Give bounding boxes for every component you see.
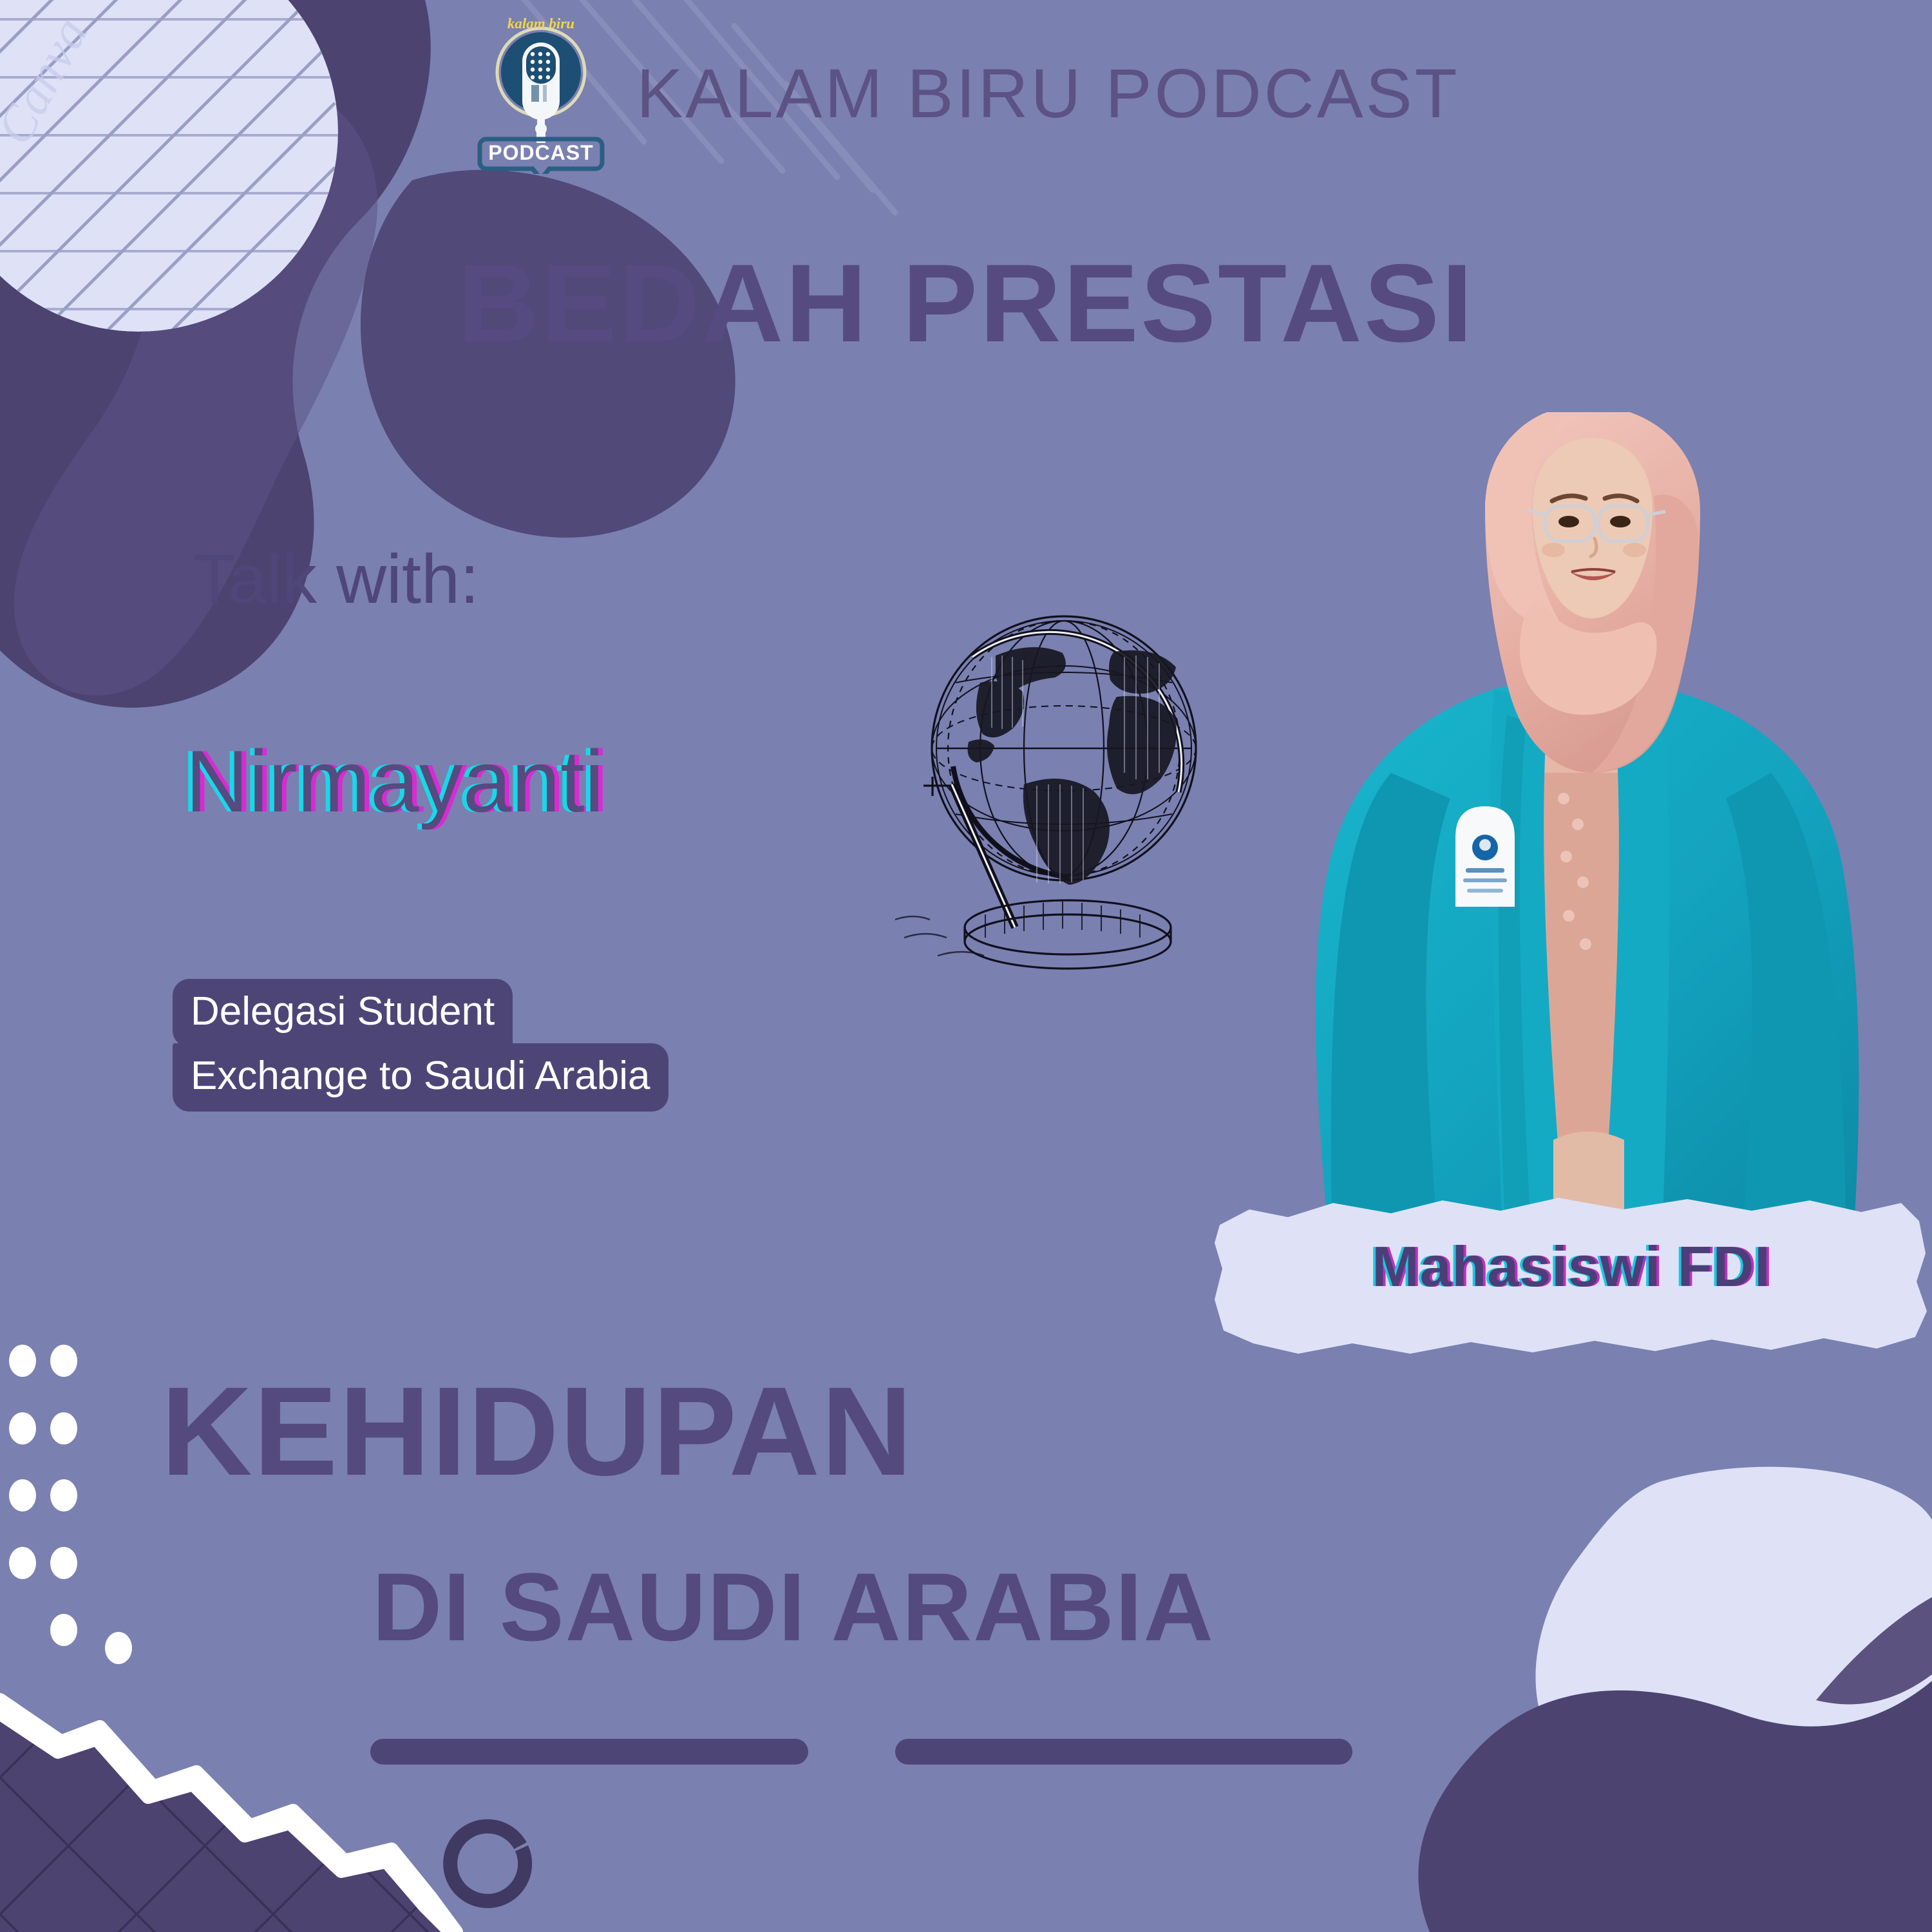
podcast-poster: Canva	[0, 0, 1932, 1932]
divider-bar-left	[370, 1739, 808, 1765]
poster-header: kalam biru PODCAST KALAM BIRU PODCAST	[0, 13, 1932, 174]
headline-line-2: DI SAUDI ARABIA	[372, 1558, 1215, 1655]
globe-icon	[876, 580, 1224, 979]
svg-text:PODCAST: PODCAST	[489, 141, 594, 164]
headline-line-1: KEHIDUPAN	[161, 1368, 914, 1495]
guest-name: Nirmayanti	[185, 737, 604, 825]
svg-text:kalam biru: kalam biru	[507, 15, 574, 32]
status-badge-label: Mahasiswi FDI	[1211, 1191, 1932, 1359]
guest-role-block: Delegasi Student Exchange to Saudi Arabi…	[173, 979, 668, 1112]
guest-role-line-2: Exchange to Saudi Arabia	[173, 1043, 668, 1112]
kalam-biru-logo: kalam biru PODCAST	[472, 13, 611, 174]
status-badge: Mahasiswi FDI	[1211, 1191, 1932, 1359]
talk-with-label: Talk with:	[193, 544, 479, 614]
divider-bar-right	[895, 1739, 1352, 1765]
guest-role-line-1: Delegasi Student	[173, 979, 513, 1047]
page-title: BEDAH PRESTASI	[0, 248, 1932, 359]
guest-portrait	[1301, 412, 1880, 1217]
brand-title: KALAM BIRU PODCAST	[636, 59, 1459, 128]
